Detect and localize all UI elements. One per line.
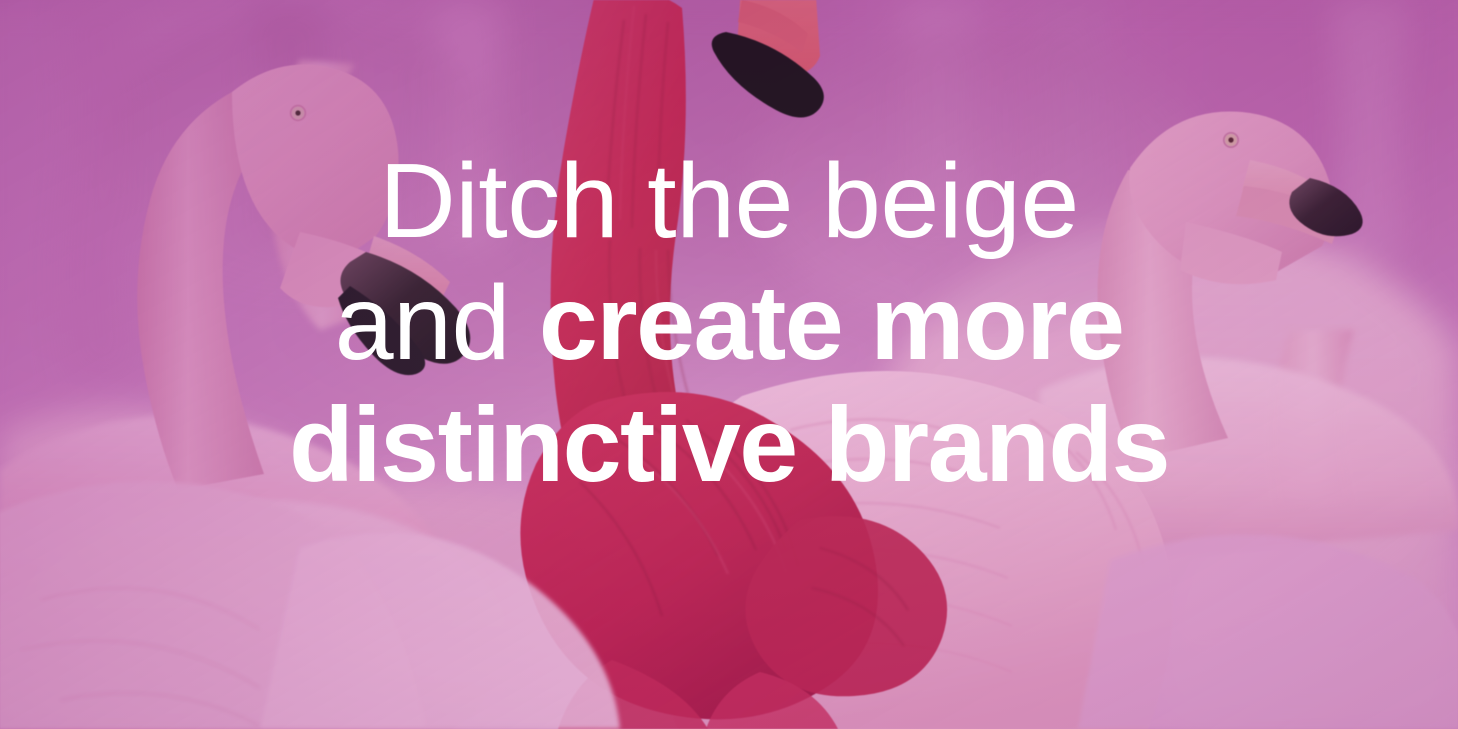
headline: Ditch the beige and create more distinct…: [0, 140, 1458, 506]
headline-line-3-text: distinctive brands: [289, 386, 1169, 504]
headline-line-1: Ditch the beige: [0, 140, 1458, 262]
headline-line-2-bold: create more: [539, 264, 1124, 382]
headline-line-2: and create more: [0, 262, 1458, 384]
banner-image: Ditch the beige and create more distinct…: [0, 0, 1458, 729]
headline-line-2-light: and: [335, 264, 539, 382]
headline-line-3: distinctive brands: [0, 384, 1458, 506]
headline-line-1-text: Ditch the beige: [379, 142, 1079, 260]
